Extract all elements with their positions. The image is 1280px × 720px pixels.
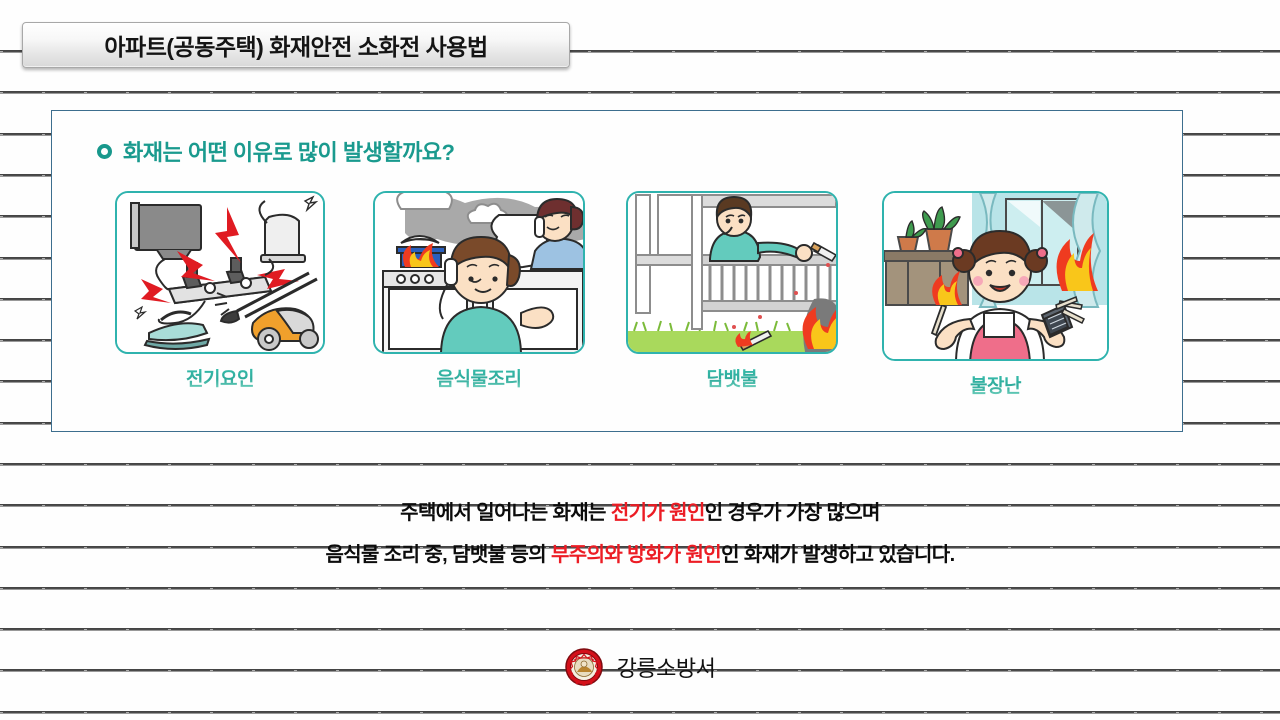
- cause-card-label: 불장난: [882, 371, 1109, 398]
- footer: 강릉소방서: [0, 648, 1280, 686]
- cigarette-fire-icon: [626, 191, 838, 354]
- cause-card-label: 전기요인: [115, 364, 325, 391]
- electrical-hazard-icon: [115, 191, 325, 354]
- content-panel: 화재는 어떤 이유로 많이 발생할까요?: [51, 110, 1183, 432]
- statement-line-1: 주택에서 일어나는 화재는 전기가 원인인 경우가 가장 많으며: [0, 496, 1280, 525]
- cause-card-label: 담뱃불: [626, 364, 838, 391]
- cause-card-cooking[interactable]: 음식물조리: [373, 191, 585, 391]
- cause-card-electrical[interactable]: 전기요인: [115, 191, 325, 391]
- statement-part: 인 화재가 발생하고 있습니다.: [721, 544, 954, 566]
- ring-bullet-icon: [97, 144, 112, 159]
- statement-part: 인 경우가 가장 많으며: [705, 502, 880, 524]
- statement-highlight: 전기가 원인: [611, 502, 705, 524]
- cause-card-label: 음식물조리: [373, 364, 585, 391]
- slide-title-plate: 아파트(공동주택) 화재안전 소화전 사용법: [22, 22, 570, 68]
- statement-line-2: 음식물 조리 중, 담뱃불 등의 부주의와 방화가 원인인 화재가 발생하고 있…: [0, 538, 1280, 567]
- section-heading-label: 화재는 어떤 이유로 많이 발생할까요?: [123, 135, 455, 167]
- cooking-fire-icon: [373, 191, 585, 354]
- statement-part: 음식물 조리 중, 담뱃불 등의: [325, 544, 551, 566]
- slide-title: 아파트(공동주택) 화재안전 소화전 사용법: [104, 28, 487, 62]
- statement-part: 주택에서 일어나는 화재는: [400, 502, 611, 524]
- section-heading: 화재는 어떤 이유로 많이 발생할까요?: [97, 135, 455, 167]
- statement-highlight: 부주의와 방화가 원인: [551, 544, 721, 566]
- footer-organization: 강릉소방서: [617, 651, 716, 683]
- playing-with-fire-icon: [882, 191, 1109, 361]
- cause-card-cigarette[interactable]: 담뱃불: [626, 191, 838, 391]
- fire-station-emblem-icon: [565, 648, 603, 686]
- cause-card-playing-fire[interactable]: 불장난: [882, 191, 1109, 398]
